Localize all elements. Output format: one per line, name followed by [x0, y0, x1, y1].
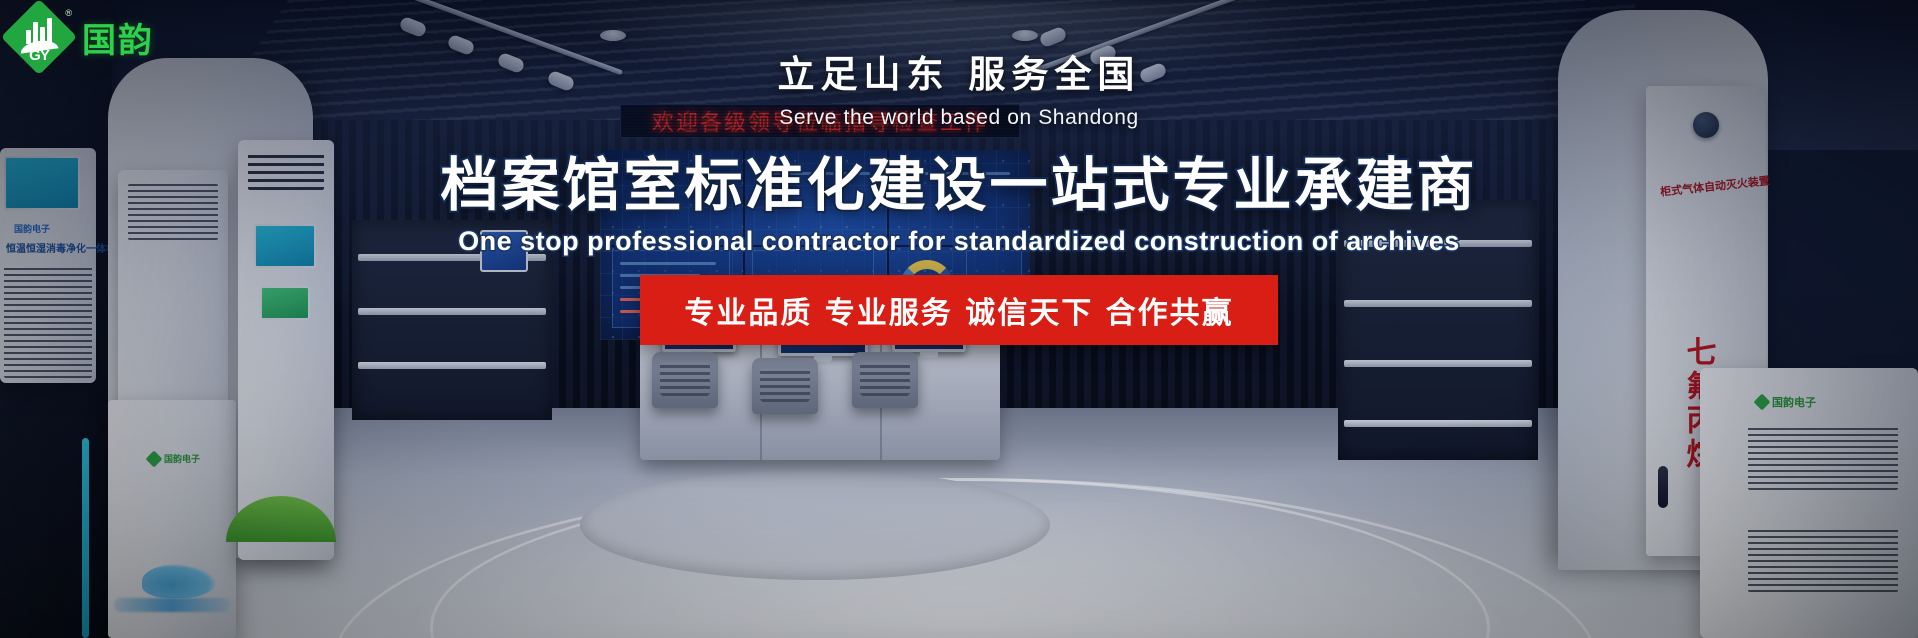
- hero-copy-block: 立足山东 服务全国 Serve the world based on Shand…: [0, 0, 1918, 345]
- brand-diamond-icon: [1754, 394, 1771, 411]
- equipment-brand-label: 国韵电子: [164, 452, 200, 465]
- eyebrow-cn: 立足山东 服务全国: [0, 44, 1918, 98]
- equipment-brand-label-right: 国韵电子: [1772, 394, 1816, 410]
- page-subtitle-en: One stop professional contractor for sta…: [0, 226, 1918, 257]
- cta-banner[interactable]: 专业品质 专业服务 诚信天下 合作共赢: [640, 275, 1277, 345]
- desk-chair: [652, 352, 718, 408]
- eyebrow-en: Serve the world based on Shandong: [0, 106, 1918, 130]
- water-graphic: [114, 598, 230, 612]
- shelf: [1344, 360, 1532, 367]
- floor-podium: [580, 470, 1050, 580]
- desk-chair: [752, 358, 818, 414]
- horse-graphic: [142, 564, 216, 598]
- right-floor-unit: 国韵电子: [1700, 368, 1918, 638]
- brand-diamond-icon: [146, 450, 163, 467]
- left-floor-unit: 国韵电子: [108, 400, 236, 638]
- accent-bar: [82, 438, 89, 638]
- company-name-text: 国韵: [82, 13, 154, 62]
- shelf: [358, 362, 546, 369]
- shelf: [1344, 420, 1532, 427]
- desk-chair: [852, 352, 918, 408]
- registered-mark: ®: [65, 8, 72, 18]
- logo-gy-text: GY: [29, 47, 49, 64]
- unit-vent: [1748, 426, 1898, 490]
- company-logo[interactable]: GY ® 国韵: [8, 6, 154, 68]
- page-title: 档案馆室标准化建设一站式专业承建商: [0, 138, 1918, 222]
- cabinet-handle: [1658, 466, 1668, 508]
- logo-mark-icon: GY ®: [8, 6, 70, 68]
- unit-vent: [1748, 528, 1898, 592]
- landscape-graphic: [226, 496, 336, 542]
- hero-banner: 欢迎各级领导莅临指导检查工作 国韵电子 恒温恒湿消毒净化一体机: [0, 0, 1918, 638]
